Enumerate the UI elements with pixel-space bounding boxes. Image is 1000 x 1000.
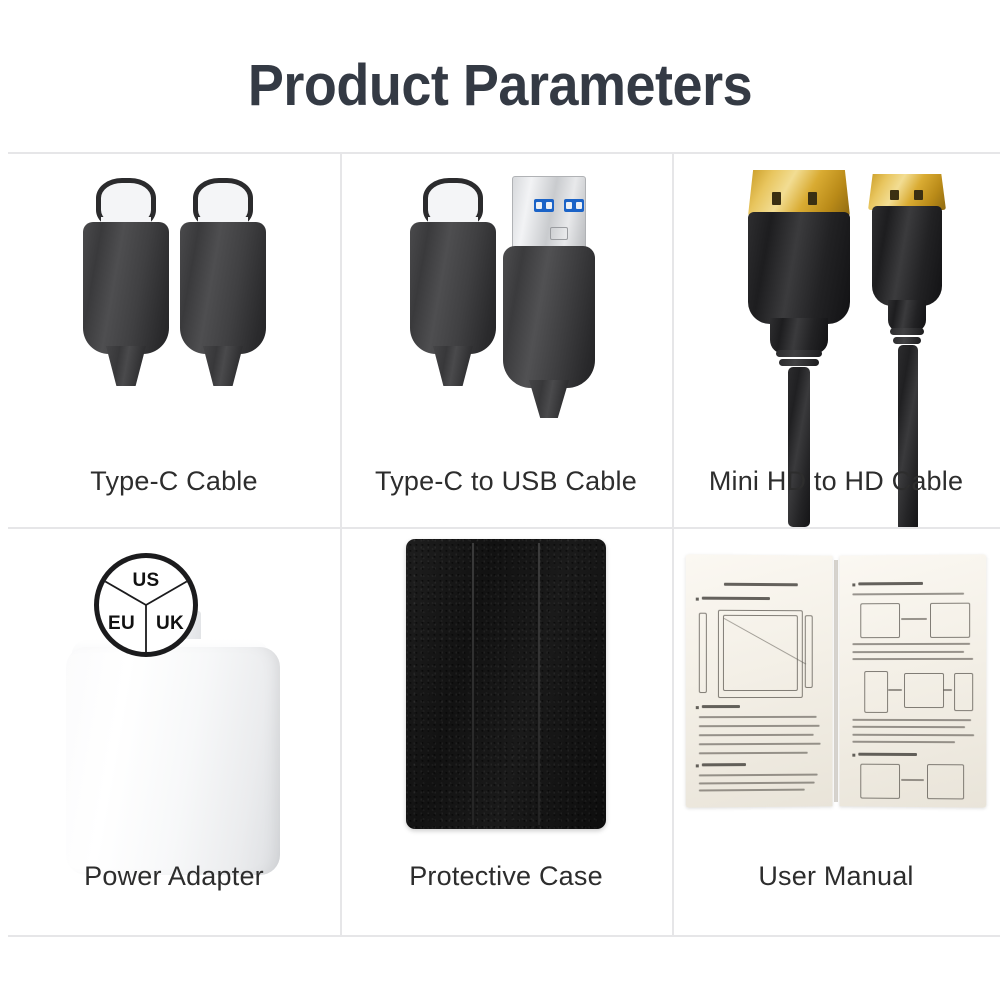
mini-hd-to-hd-cable-image: [672, 152, 1000, 465]
manual-page-right: [840, 554, 987, 807]
manual-page-left: [686, 554, 833, 807]
item-label-mini-hd-to-hd-cable: Mini HD to HD Cable: [672, 466, 1000, 497]
product-parameters-page: Product Parameters Type-C Cable: [0, 0, 1000, 1000]
case-fold-line-1: [472, 543, 474, 825]
open-manual: [686, 555, 986, 807]
usb-contact-left-icon: [534, 199, 554, 212]
item-label-user-manual: User Manual: [672, 861, 1000, 892]
grid-cell-type-c-cable[interactable]: Type-C Cable: [8, 152, 340, 527]
grid-cell-protective-case[interactable]: Protective Case: [340, 527, 672, 936]
grid-cell-mini-hd-to-hd-cable[interactable]: Mini HD to HD Cable: [672, 152, 1000, 527]
grid-cell-user-manual[interactable]: User Manual: [672, 527, 1000, 936]
power-adapter-image: US EU UK: [8, 527, 340, 874]
usb-a-shell-icon: [512, 176, 586, 254]
mini-hdmi-connector: [868, 174, 950, 474]
grid-cell-type-c-to-usb-cable[interactable]: Type-C to USB Cable: [340, 152, 672, 527]
badge-label-uk: UK: [156, 613, 184, 635]
type-c-cable-image: [8, 152, 340, 465]
user-manual-image: [672, 527, 1000, 874]
hdmi-gold-contact-icon: [748, 170, 850, 216]
item-label-type-c-cable: Type-C Cable: [8, 466, 340, 497]
mini-hdmi-gold-contact-icon: [868, 174, 946, 210]
adapter-body: [66, 647, 280, 875]
page-title: Product Parameters: [35, 52, 965, 119]
superspeed-logo-icon: [550, 227, 568, 240]
plug-type-badge: US EU UK: [94, 553, 198, 657]
grid-cell-power-adapter[interactable]: US EU UK Power Adapter: [8, 527, 340, 936]
product-grid: Type-C Cable: [8, 152, 1000, 936]
badge-label-eu: EU: [108, 613, 135, 635]
manual-spine: [834, 560, 839, 802]
badge-label-us: US: [99, 570, 193, 592]
item-label-protective-case: Protective Case: [340, 861, 672, 892]
item-label-type-c-to-usb-cable: Type-C to USB Cable: [340, 466, 672, 497]
item-label-power-adapter: Power Adapter: [8, 861, 340, 892]
tablet-case: [406, 539, 606, 829]
type-c-to-usb-cable-image: [340, 152, 672, 465]
hdmi-connector: [748, 170, 854, 470]
usb-contact-right-icon: [564, 199, 584, 212]
case-fold-line-2: [538, 543, 540, 825]
protective-case-image: [340, 527, 672, 874]
